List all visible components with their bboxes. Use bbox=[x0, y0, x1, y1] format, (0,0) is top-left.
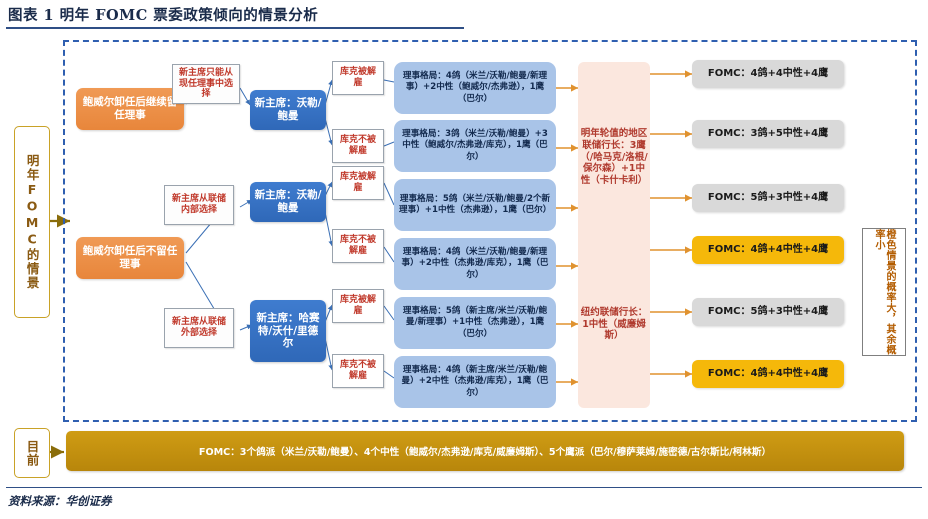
premise-box-stay[interactable]: 鲍威尔卸任后继续留任理事 bbox=[76, 88, 184, 130]
note-label: 新主席只能从现任理事中选择 bbox=[176, 68, 236, 101]
cook-label: 库克不被解雇 bbox=[336, 360, 380, 382]
cook-box-fired-1[interactable]: 库克被解雇 bbox=[332, 61, 384, 95]
chair-box-1[interactable]: 新主席：沃勒/鲍曼 bbox=[250, 90, 326, 130]
board-composition-box-1[interactable]: 理事格局：4鸽（米兰/沃勒/鲍曼/新理事）+2中性（鲍威尔/杰弗逊），1鹰（巴尔… bbox=[394, 62, 556, 114]
board-composition-box-2[interactable]: 理事格局：3鸽（米兰/沃勒/鲍曼）+3中性（鲍威尔/杰弗逊/库克），1鹰（巴尔） bbox=[394, 120, 556, 172]
regional-presidents-panel: 明年轮值的地区联储行长：3鹰（/哈马克/洛根/保尔森）+1中性（卡什卡利） 纽约… bbox=[578, 62, 650, 408]
note-label: 新主席从联储外部选择 bbox=[168, 317, 230, 339]
board-composition-label: 理事格局：4鸽（米兰/沃勒/鲍曼/新理事）+2中性（鲍威尔/杰弗逊），1鹰（巴尔… bbox=[399, 71, 551, 105]
board-composition-box-3[interactable]: 理事格局：5鸽（米兰/沃勒/鲍曼/2个新理事）+1中性（杰弗逊），1鹰（巴尔） bbox=[394, 179, 556, 231]
chair-label: 新主席：沃勒/鲍曼 bbox=[253, 97, 323, 123]
probability-note-box: 橙色情景的概率大，其余概率小 bbox=[862, 228, 906, 356]
title-divider bbox=[6, 27, 464, 29]
ny-president-text: 纽约联储行长：1中性（威廉姆斯） bbox=[580, 307, 648, 343]
note-box-inside-governors[interactable]: 新主席只能从现任理事中选择 bbox=[172, 64, 240, 104]
outcome-box-1[interactable]: FOMC：4鸽+4中性+4鹰 bbox=[692, 60, 844, 88]
outcome-box-4[interactable]: FOMC：4鸽+4中性+4鹰 bbox=[692, 236, 844, 264]
outcome-label: FOMC：4鸽+4中性+4鹰 bbox=[708, 68, 828, 80]
current-state-bar: FOMC：3个鸽派（米兰/沃勒/鲍曼）、4个中性（鲍威尔/杰弗逊/库克/威廉姆斯… bbox=[66, 431, 904, 471]
board-composition-box-6[interactable]: 理事格局：4鸽（新主席/米兰/沃勒/鲍曼）+2中性（杰弗逊/库克），1鹰（巴尔） bbox=[394, 356, 556, 408]
cook-box-kept-2[interactable]: 库克不被解雇 bbox=[332, 229, 384, 263]
premise-label: 鲍威尔卸任后不留任理事 bbox=[80, 245, 180, 271]
cook-label: 库克不被解雇 bbox=[336, 235, 380, 257]
cook-label: 库克被解雇 bbox=[336, 67, 380, 89]
board-composition-box-5[interactable]: 理事格局：5鸽（新主席/米兰/沃勒/鲍曼/新理事）+1中性（杰弗逊），1鹰（巴尔… bbox=[394, 297, 556, 349]
outcome-label: FOMC：5鸽+3中性+4鹰 bbox=[708, 192, 828, 204]
outcome-label: FOMC：5鸽+3中性+4鹰 bbox=[708, 306, 828, 318]
outcome-box-5[interactable]: FOMC：5鸽+3中性+4鹰 bbox=[692, 298, 844, 326]
scenario-rail-text: 明年FOMC的情景 bbox=[25, 154, 38, 290]
premise-label: 鲍威尔卸任后继续留任理事 bbox=[80, 96, 180, 122]
chair-label: 新主席：哈赛特/沃什/里德尔 bbox=[253, 312, 323, 350]
probability-note-text: 橙色情景的概率大，其余概率小 bbox=[873, 229, 895, 355]
current-rail-text: 目前 bbox=[23, 440, 42, 467]
outcome-label: FOMC：4鸽+4中性+4鹰 bbox=[708, 368, 828, 380]
board-composition-label: 理事格局：3鸽（米兰/沃勒/鲍曼）+3中性（鲍威尔/杰弗逊/库克），1鹰（巴尔） bbox=[399, 129, 551, 163]
board-composition-label: 理事格局：4鸽（米兰/沃勒/鲍曼/新理事）+2中性（杰弗逊/库克），1鹰（巴尔） bbox=[399, 247, 551, 281]
cook-box-kept-3[interactable]: 库克不被解雇 bbox=[332, 354, 384, 388]
outcome-box-6[interactable]: FOMC：4鸽+4中性+4鹰 bbox=[692, 360, 844, 388]
premise-box-leave[interactable]: 鲍威尔卸任后不留任理事 bbox=[76, 237, 184, 279]
scenario-rail-label: 明年FOMC的情景 bbox=[14, 126, 50, 318]
board-composition-label: 理事格局：5鸽（米兰/沃勒/鲍曼/2个新理事）+1中性（杰弗逊），1鹰（巴尔） bbox=[399, 194, 551, 216]
source-note: 资料来源：华创证券 bbox=[8, 493, 112, 509]
current-state-text: FOMC：3个鸽派（米兰/沃勒/鲍曼）、4个中性（鲍威尔/杰弗逊/库克/威廉姆斯… bbox=[199, 444, 771, 458]
outcome-box-3[interactable]: FOMC：5鸽+3中性+4鹰 bbox=[692, 184, 844, 212]
board-composition-label: 理事格局：5鸽（新主席/米兰/沃勒/鲍曼/新理事）+1中性（杰弗逊），1鹰（巴尔… bbox=[399, 306, 551, 340]
cook-label: 库克被解雇 bbox=[336, 172, 380, 194]
chair-box-3[interactable]: 新主席：哈赛特/沃什/里德尔 bbox=[250, 300, 326, 362]
note-box-outside-fed[interactable]: 新主席从联储外部选择 bbox=[164, 308, 234, 348]
cook-label: 库克被解雇 bbox=[336, 295, 380, 317]
footer-divider bbox=[6, 487, 922, 488]
outcome-box-2[interactable]: FOMC：3鸽+5中性+4鹰 bbox=[692, 120, 844, 148]
board-composition-label: 理事格局：4鸽（新主席/米兰/沃勒/鲍曼）+2中性（杰弗逊/库克），1鹰（巴尔） bbox=[399, 365, 551, 399]
rotating-presidents-text: 明年轮值的地区联储行长：3鹰（/哈马克/洛根/保尔森）+1中性（卡什卡利） bbox=[580, 128, 648, 187]
note-label: 新主席从联储内部选择 bbox=[168, 194, 230, 216]
note-box-inside-fed[interactable]: 新主席从联储内部选择 bbox=[164, 185, 234, 225]
chair-box-2[interactable]: 新主席：沃勒/鲍曼 bbox=[250, 182, 326, 222]
cook-box-kept-1[interactable]: 库克不被解雇 bbox=[332, 129, 384, 163]
cook-box-fired-2[interactable]: 库克被解雇 bbox=[332, 166, 384, 200]
board-composition-box-4[interactable]: 理事格局：4鸽（米兰/沃勒/鲍曼/新理事）+2中性（杰弗逊/库克），1鹰（巴尔） bbox=[394, 238, 556, 290]
outcome-label: FOMC：4鸽+4中性+4鹰 bbox=[708, 244, 828, 256]
chair-label: 新主席：沃勒/鲍曼 bbox=[253, 189, 323, 215]
page-title: 图表 1 明年 FOMC 票委政策倾向的情景分析 bbox=[8, 4, 920, 25]
cook-label: 库克不被解雇 bbox=[336, 135, 380, 157]
cook-box-fired-3[interactable]: 库克被解雇 bbox=[332, 289, 384, 323]
current-rail-label: 目前 bbox=[14, 428, 50, 478]
outcome-label: FOMC：3鸽+5中性+4鹰 bbox=[708, 128, 828, 140]
